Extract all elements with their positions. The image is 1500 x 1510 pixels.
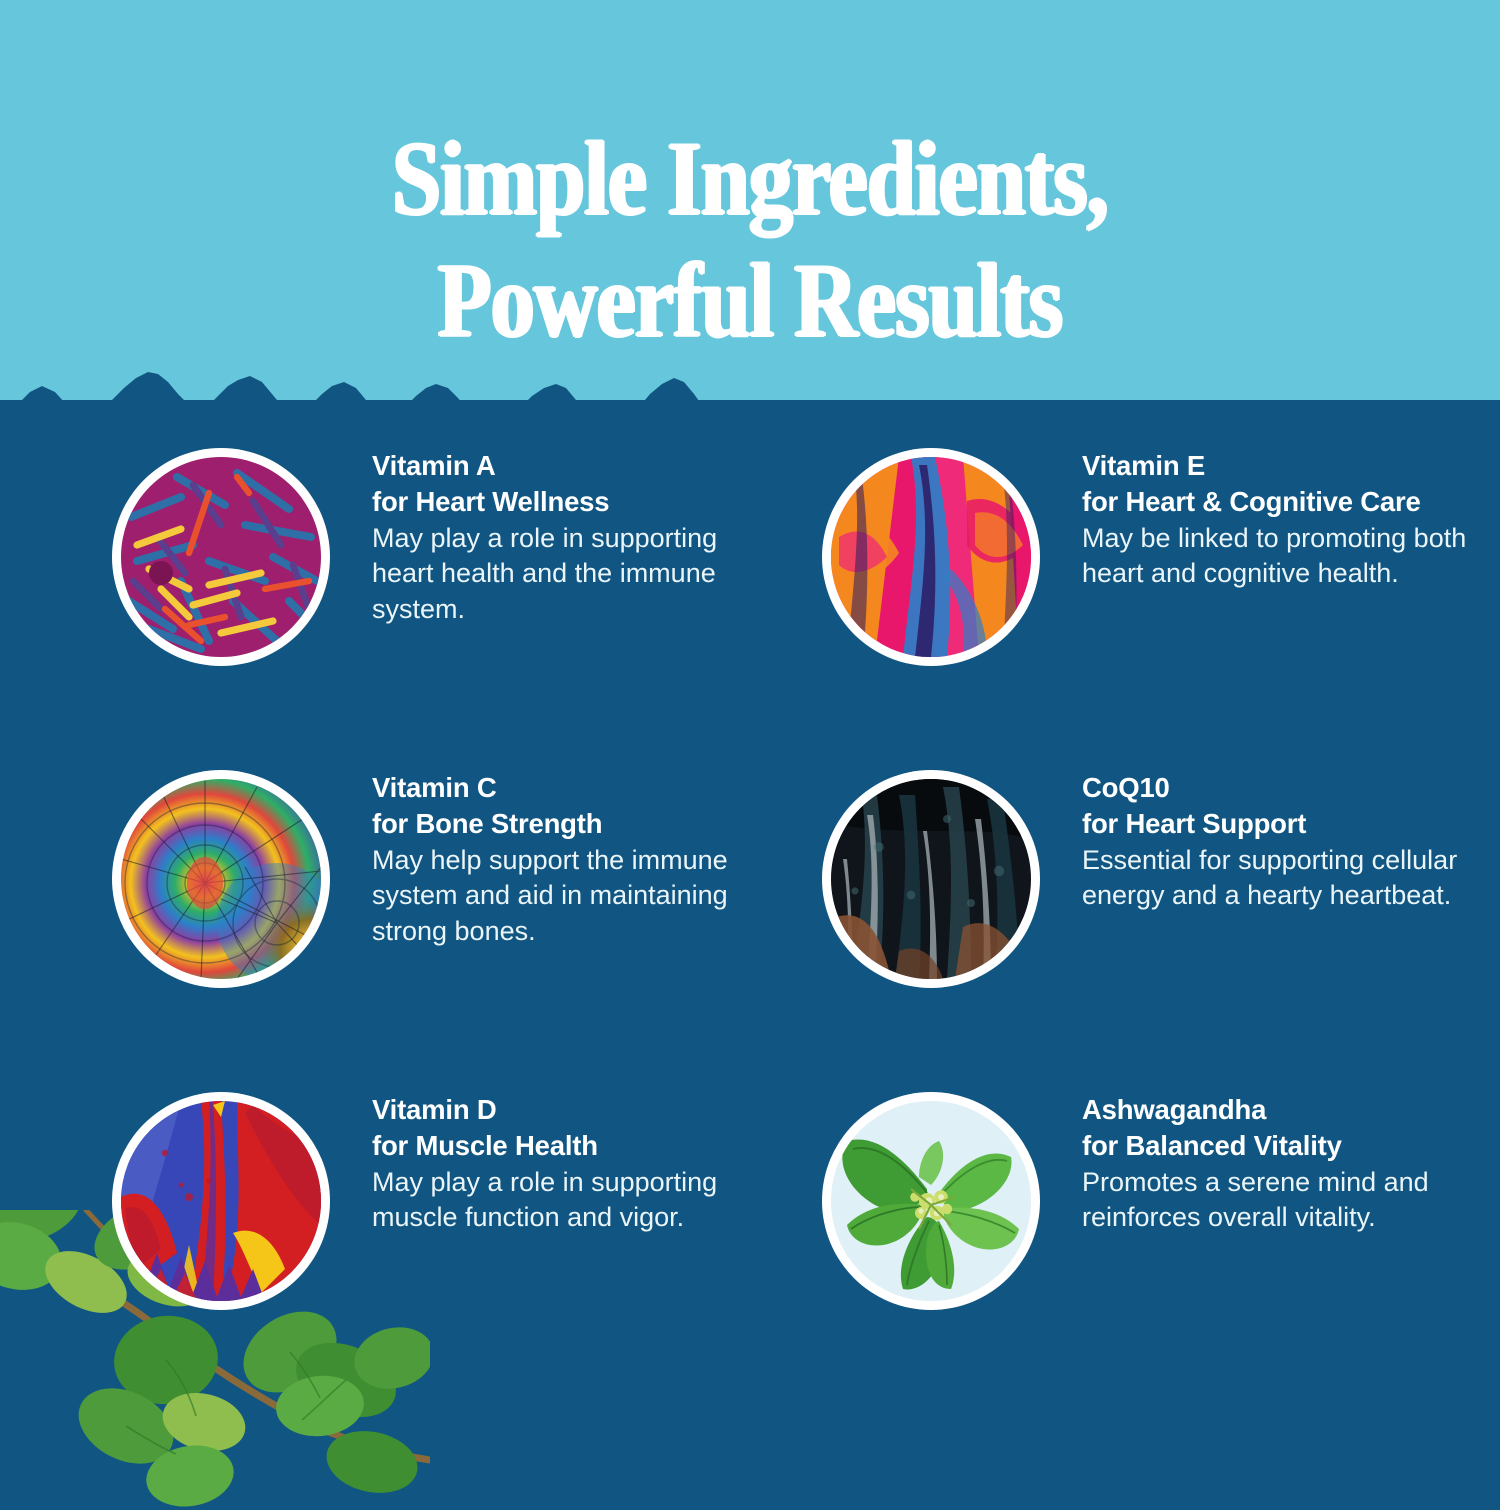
ingredient-thumbnail-ring — [112, 770, 330, 988]
ingredient-thumbnail-ring — [822, 770, 1040, 988]
ingredient-copy: Vitamin A for Heart Wellness May play a … — [372, 440, 772, 627]
coq10-crystal-micrograph — [831, 779, 1031, 979]
ingredient-card-coq10: CoQ10 for Heart Support Essential for su… — [822, 762, 1492, 1084]
ingredient-copy: Vitamin D for Muscle Health May play a r… — [372, 1084, 772, 1236]
ingredient-card-ashwagandha: Ashwagandha for Balanced Vitality Promot… — [822, 1084, 1492, 1406]
ingredient-copy: Ashwagandha for Balanced Vitality Promot… — [1082, 1084, 1492, 1236]
ingredient-thumbnail-ring — [112, 1092, 330, 1310]
ingredient-name: Vitamin A — [372, 448, 772, 484]
ingredient-name: Vitamin D — [372, 1092, 772, 1128]
ingredient-thumbnail-ring — [822, 1092, 1040, 1310]
vitamin-d-crystal-micrograph — [121, 1101, 321, 1301]
ingredient-thumbnail-ring — [822, 448, 1040, 666]
headline-line-2: Powerful Results — [128, 240, 1373, 362]
ingredient-description: May be linked to promoting both heart an… — [1082, 521, 1492, 592]
ingredient-card-vitamin-a: Vitamin A for Heart Wellness May play a … — [112, 440, 782, 762]
ingredient-benefit: for Muscle Health — [372, 1128, 772, 1164]
ingredient-description: May play a role in supporting heart heal… — [372, 521, 772, 628]
ingredient-name: CoQ10 — [1082, 770, 1492, 806]
ingredient-thumbnail-ring — [112, 448, 330, 666]
hero-background-band — [0, 0, 1500, 400]
page-title: Simple Ingredients, Powerful Results — [128, 118, 1373, 362]
ingredient-card-vitamin-e: Vitamin E for Heart & Cognitive Care May… — [822, 440, 1492, 762]
ingredient-copy: Vitamin E for Heart & Cognitive Care May… — [1082, 440, 1492, 592]
vitamin-e-crystal-micrograph — [831, 457, 1031, 657]
ingredient-benefit: for Balanced Vitality — [1082, 1128, 1492, 1164]
vitamin-c-crystal-micrograph — [121, 779, 321, 979]
ingredient-name: Vitamin C — [372, 770, 772, 806]
ingredient-card-vitamin-d: Vitamin D for Muscle Health May play a r… — [112, 1084, 782, 1406]
ingredient-copy: Vitamin C for Bone Strength May help sup… — [372, 762, 772, 949]
ingredient-grid: Vitamin A for Heart Wellness May play a … — [0, 440, 1500, 1406]
ingredient-description: May play a role in supporting muscle fun… — [372, 1165, 772, 1236]
ingredient-card-vitamin-c: Vitamin C for Bone Strength May help sup… — [112, 762, 782, 1084]
ingredient-benefit: for Heart Support — [1082, 806, 1492, 842]
ingredient-name: Ashwagandha — [1082, 1092, 1492, 1128]
ingredient-description: Promotes a serene mind and reinforces ov… — [1082, 1165, 1492, 1236]
ingredient-benefit: for Heart Wellness — [372, 484, 772, 520]
ashwagandha-plant-photo — [831, 1101, 1031, 1301]
ingredient-copy: CoQ10 for Heart Support Essential for su… — [1082, 762, 1492, 914]
ingredient-description: Essential for supporting cellular energy… — [1082, 843, 1492, 914]
ingredient-benefit: for Heart & Cognitive Care — [1082, 484, 1492, 520]
headline-line-1: Simple Ingredients, — [392, 120, 1108, 237]
ingredient-description: May help support the immune system and a… — [372, 843, 772, 950]
ingredient-name: Vitamin E — [1082, 448, 1492, 484]
vitamin-a-crystal-micrograph — [121, 457, 321, 657]
ingredient-benefit: for Bone Strength — [372, 806, 772, 842]
